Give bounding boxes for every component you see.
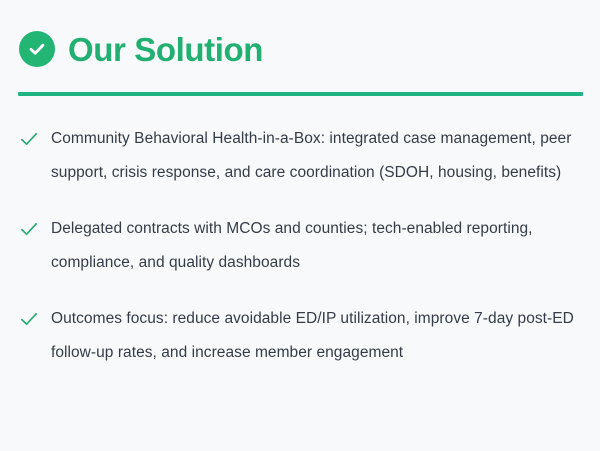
list-item-text: Delegated contracts with MCOs and counti… [51, 212, 584, 280]
slide-root: Our Solution Community Behavioral Health… [0, 0, 600, 451]
check-circle-icon [19, 31, 55, 67]
list-item: Community Behavioral Health-in-a-Box: in… [19, 122, 584, 190]
list-item: Outcomes focus: reduce avoidable ED/IP u… [19, 302, 584, 370]
check-icon [19, 311, 41, 327]
page-title: Our Solution [68, 33, 263, 66]
title-divider [18, 92, 583, 96]
bullet-list: Community Behavioral Health-in-a-Box: in… [19, 122, 584, 370]
list-item-text: Community Behavioral Health-in-a-Box: in… [51, 122, 584, 190]
check-icon [19, 131, 41, 147]
slide-header: Our Solution [19, 31, 263, 67]
list-item: Delegated contracts with MCOs and counti… [19, 212, 584, 280]
list-item-text: Outcomes focus: reduce avoidable ED/IP u… [51, 302, 584, 370]
check-icon [19, 221, 41, 237]
